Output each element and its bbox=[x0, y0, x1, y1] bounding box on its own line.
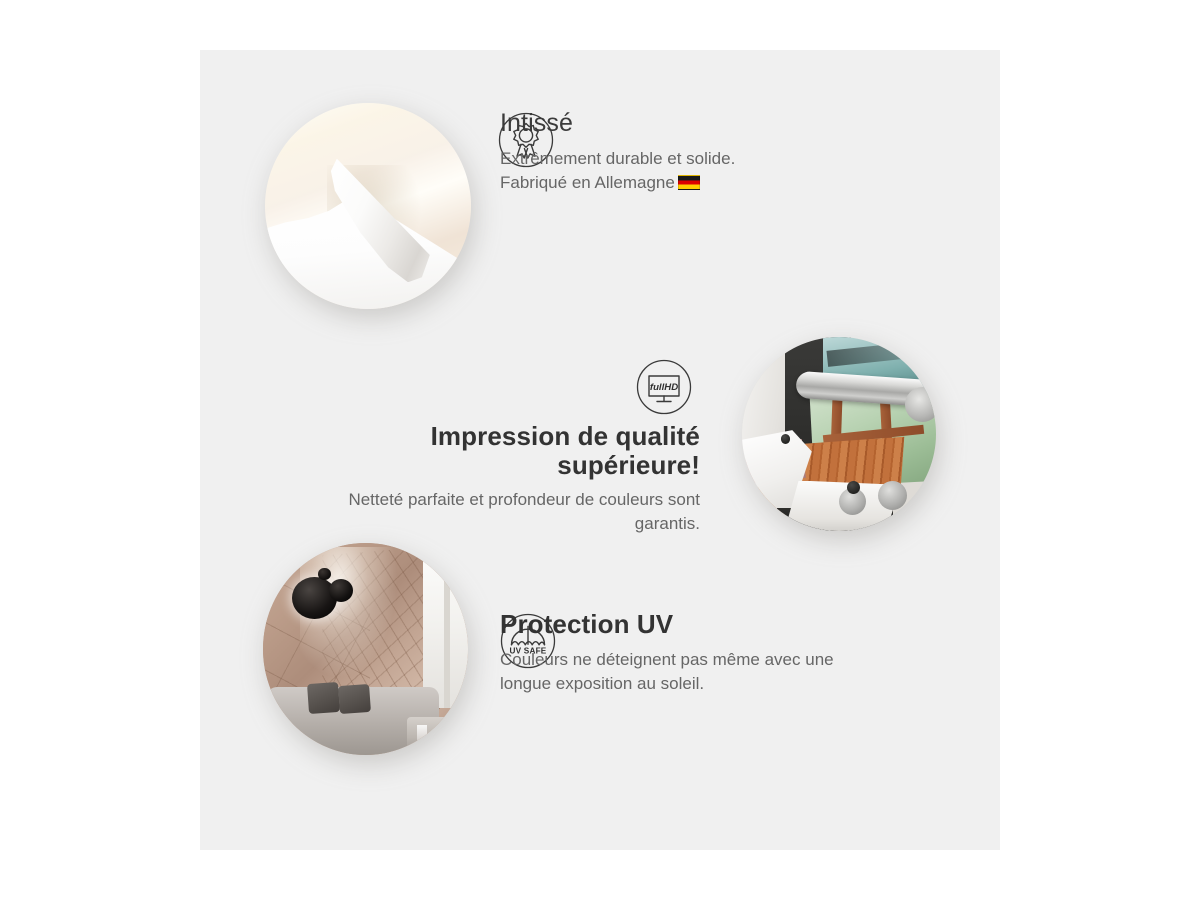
feature-body-line2: garantis. bbox=[635, 514, 700, 533]
feature-body-line2: longue exposition au soleil. bbox=[500, 674, 704, 693]
roller-end-cap bbox=[905, 387, 936, 422]
window-frame bbox=[444, 543, 449, 708]
feature-canvas: Intissé Extrêmement durable et solide. F… bbox=[200, 50, 1000, 850]
feature-body-line1: Netteté parfaite et profondeur de couleu… bbox=[348, 490, 700, 509]
fullhd-monitor-icon: fullHD bbox=[636, 359, 692, 415]
wine-glass bbox=[417, 725, 427, 746]
feature-body-intisse: Extrêmement durable et solide. Fabriqué … bbox=[500, 147, 800, 195]
feature-title-quality: Impression de qualité supérieure! bbox=[290, 422, 700, 479]
photo-circle-3 bbox=[263, 543, 468, 755]
feature-body-uv: Couleurs ne déteignent pas même avec une… bbox=[500, 648, 880, 696]
feature-block-uv: Protection UV Couleurs ne déteignent pas… bbox=[500, 610, 880, 696]
wallpaper-roll-peeled-corner-photo bbox=[265, 103, 471, 309]
machine-wheel-2 bbox=[878, 481, 907, 510]
feature-body-line1: Couleurs ne déteignent pas même avec une bbox=[500, 650, 834, 669]
sofa-cushion-2 bbox=[338, 684, 371, 714]
photo-circle-1 bbox=[265, 103, 471, 309]
german-flag-icon bbox=[678, 175, 700, 190]
sofa-ottoman bbox=[407, 717, 460, 751]
feature-body-line2: Fabriqué en Allemagne bbox=[500, 173, 675, 192]
living-room-3d-wallpaper-photo bbox=[263, 543, 468, 755]
feature-body-line1: Extrêmement durable et solide. bbox=[500, 149, 735, 168]
feature-block-quality: Impression de qualité supérieure! Nettet… bbox=[290, 422, 700, 536]
feature-block-intisse: Intissé Extrêmement durable et solide. F… bbox=[500, 110, 800, 195]
printing-machine-photo bbox=[742, 337, 936, 531]
pendant-lamp-3 bbox=[318, 568, 330, 580]
feature-title-intisse: Intissé bbox=[500, 110, 800, 138]
feature-title-uv: Protection UV bbox=[500, 610, 880, 639]
svg-text:fullHD: fullHD bbox=[650, 382, 678, 393]
machine-knob-2 bbox=[781, 434, 791, 444]
infographic-page: Intissé Extrêmement durable et solide. F… bbox=[0, 0, 1200, 900]
photo-circle-2 bbox=[742, 337, 936, 531]
sofa-cushion-1 bbox=[307, 682, 340, 714]
feature-body-quality: Netteté parfaite et profondeur de couleu… bbox=[290, 488, 700, 536]
